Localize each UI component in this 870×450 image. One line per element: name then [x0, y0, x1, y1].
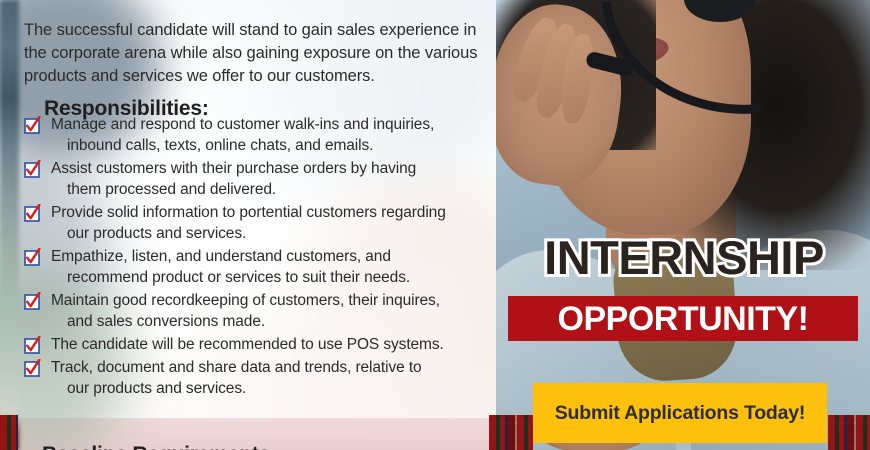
internship-poster: The successful candidate will stand to g… — [0, 0, 870, 450]
list-item: The candidate will be recommended to use… — [24, 334, 489, 355]
list-item-line-2: our products and services. — [51, 223, 489, 244]
headset-woman-photo: INTERNSHIP OPPORTUNITY! Submit Applicati… — [496, 0, 870, 450]
list-item-line-1: Empathize, listen, and understand custom… — [51, 246, 489, 267]
list-item-line-1: Manage and respond to customer walk-ins … — [51, 114, 489, 135]
baseline-requirements-heading: Baseline Requirements: — [42, 443, 277, 450]
submit-applications-button[interactable]: Submit Applications Today! — [533, 383, 827, 443]
list-item-line-2: them processed and delivered. — [51, 179, 489, 200]
checked-checkbox-icon — [24, 248, 41, 265]
tartan-strip-middle — [489, 415, 533, 450]
left-edge-strip — [0, 0, 19, 450]
tartan-strip-left — [0, 415, 18, 450]
headline-opportunity: OPPORTUNITY! — [508, 299, 858, 339]
checked-checkbox-icon — [24, 359, 41, 376]
submit-applications-label: Submit Applications Today! — [555, 402, 805, 425]
tartan-strip-right — [828, 415, 870, 450]
list-item-line-1: Maintain good recordkeeping of customers… — [51, 290, 489, 311]
list-item-line-2: and sales conversions made. — [51, 311, 489, 332]
checked-checkbox-icon — [24, 160, 41, 177]
list-item: Provide solid information to portential … — [24, 202, 489, 244]
headline-internship: INTERNSHIP — [508, 232, 860, 284]
checked-checkbox-icon — [24, 116, 41, 133]
list-item: Maintain good recordkeeping of customers… — [24, 290, 489, 332]
list-item-line-1: The candidate will be recommended to use… — [51, 334, 489, 355]
checked-checkbox-icon — [24, 292, 41, 309]
list-item-line-1: Provide solid information to portential … — [51, 202, 489, 223]
list-item: Track, document and share data and trend… — [24, 357, 489, 399]
list-item-line-2: our products and services. — [51, 378, 489, 399]
list-item-line-2: inbound calls, texts, online chats, and … — [51, 135, 489, 156]
responsibilities-list: Manage and respond to customer walk-ins … — [24, 114, 489, 401]
list-item: Manage and respond to customer walk-ins … — [24, 114, 489, 156]
intro-paragraph: The successful candidate will stand to g… — [24, 19, 484, 88]
list-item-line-1: Assist customers with their purchase ord… — [51, 158, 489, 179]
list-item-line-2: recommend product or services to suit th… — [51, 267, 489, 288]
list-item-line-1: Track, document and share data and trend… — [51, 357, 489, 378]
list-item: Empathize, listen, and understand custom… — [24, 246, 489, 288]
list-item: Assist customers with their purchase ord… — [24, 158, 489, 200]
checked-checkbox-icon — [24, 204, 41, 221]
checked-checkbox-icon — [24, 336, 41, 353]
